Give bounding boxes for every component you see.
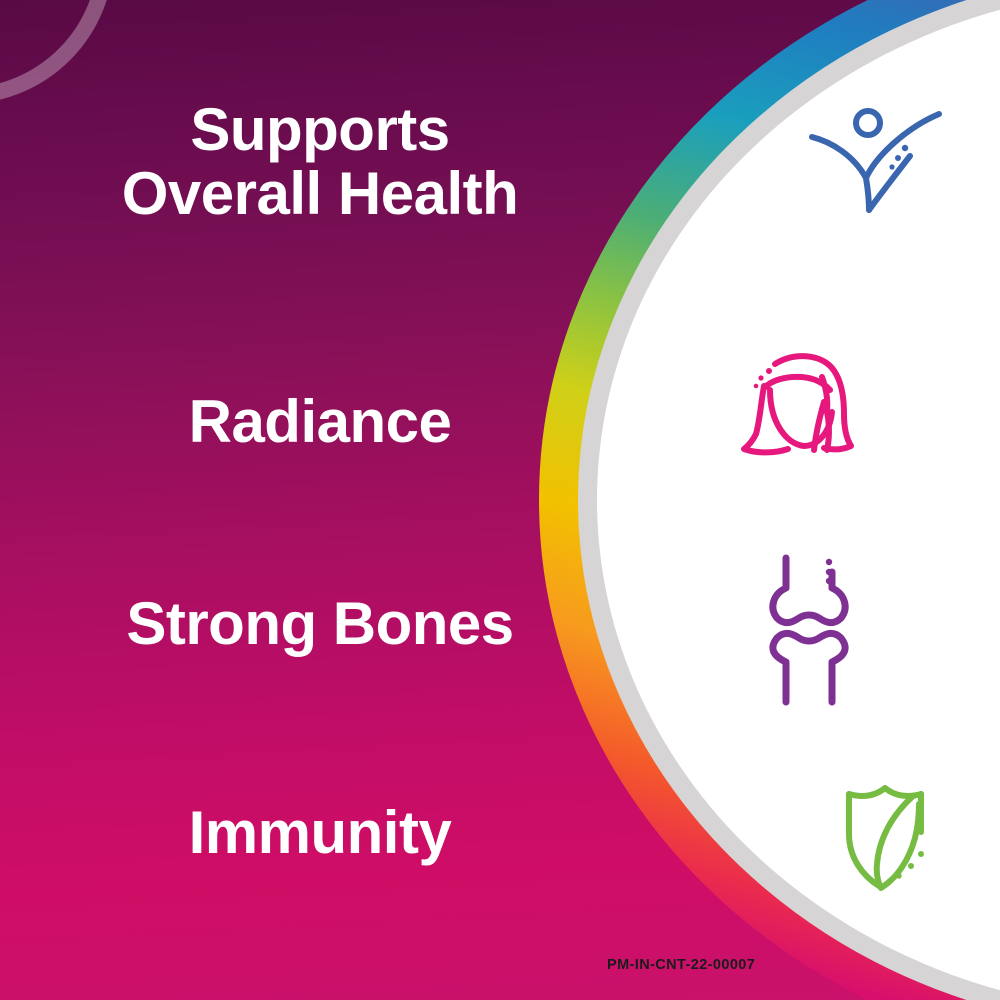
reference-code: PM-IN-CNT-22-00007: [607, 957, 755, 973]
woman-face-icon: [734, 340, 874, 480]
shield-leaf-icon: [835, 780, 949, 900]
benefit-graphic-canvas: Supports Overall Health Radiance Strong …: [0, 0, 1000, 1000]
vitality-person-icon: [806, 104, 946, 216]
bone-joint-icon: [759, 550, 859, 710]
claims-icon-column: [0, 0, 1000, 1000]
